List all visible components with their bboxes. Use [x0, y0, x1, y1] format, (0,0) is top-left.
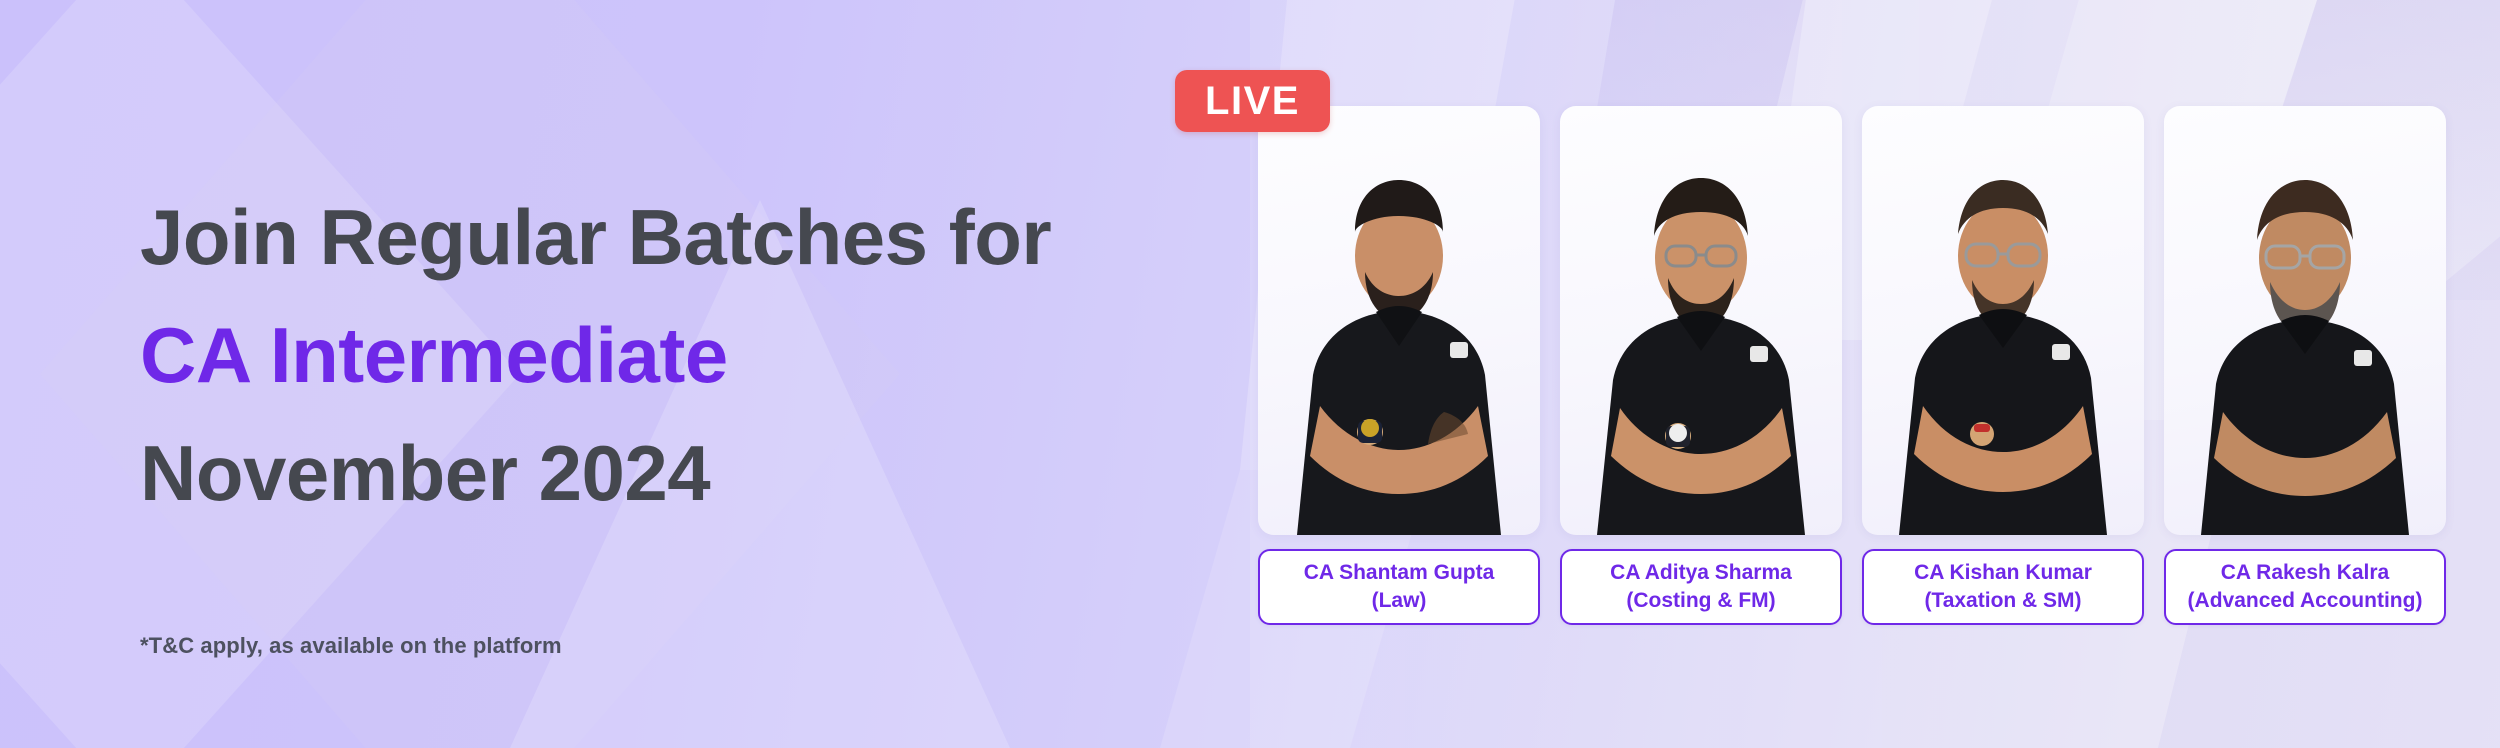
faculty-name-plate: CA Kishan Kumar (Taxation & SM) [1862, 549, 2144, 625]
terms-and-conditions-text: *T&C apply, as available on the platform [140, 633, 562, 659]
faculty-name-plate: CA Shantam Gupta (Law) [1258, 549, 1540, 625]
headline-line-3: November 2024 [140, 414, 1160, 532]
promo-banner: Join Regular Batches for CA Intermediate… [0, 0, 2500, 748]
faculty-card[interactable]: CA Aditya Sharma (Costing & FM) [1560, 106, 1842, 625]
faculty-subject: (Law) [1372, 587, 1427, 615]
live-badge: LIVE [1175, 70, 1330, 132]
faculty-subject: (Costing & FM) [1626, 587, 1775, 615]
faculty-photo [1862, 106, 2144, 535]
faculty-strip: CA Shantam Gupta (Law) [1250, 0, 2500, 748]
faculty-photo [1560, 106, 1842, 535]
faculty-photo [1258, 106, 1540, 535]
faculty-subject: (Taxation & SM) [1924, 587, 2081, 615]
faculty-name: CA Aditya Sharma [1610, 559, 1792, 587]
headline-line-1: Join Regular Batches for [140, 178, 1160, 296]
faculty-name: CA Shantam Gupta [1304, 559, 1495, 587]
faculty-card[interactable]: CA Rakesh Kalra (Advanced Accounting) [2164, 106, 2446, 625]
headline-block: Join Regular Batches for CA Intermediate… [140, 178, 1160, 532]
faculty-name: CA Kishan Kumar [1914, 559, 2092, 587]
faculty-photo [2164, 106, 2446, 535]
live-badge-label: LIVE [1205, 81, 1300, 121]
faculty-subject: (Advanced Accounting) [2188, 587, 2423, 615]
faculty-card[interactable]: CA Shantam Gupta (Law) [1258, 106, 1540, 625]
faculty-name-plate: CA Aditya Sharma (Costing & FM) [1560, 549, 1842, 625]
faculty-name: CA Rakesh Kalra [2221, 559, 2389, 587]
headline-line-2-accent: CA Intermediate [140, 296, 1160, 414]
faculty-name-plate: CA Rakesh Kalra (Advanced Accounting) [2164, 549, 2446, 625]
faculty-card[interactable]: CA Kishan Kumar (Taxation & SM) [1862, 106, 2144, 625]
